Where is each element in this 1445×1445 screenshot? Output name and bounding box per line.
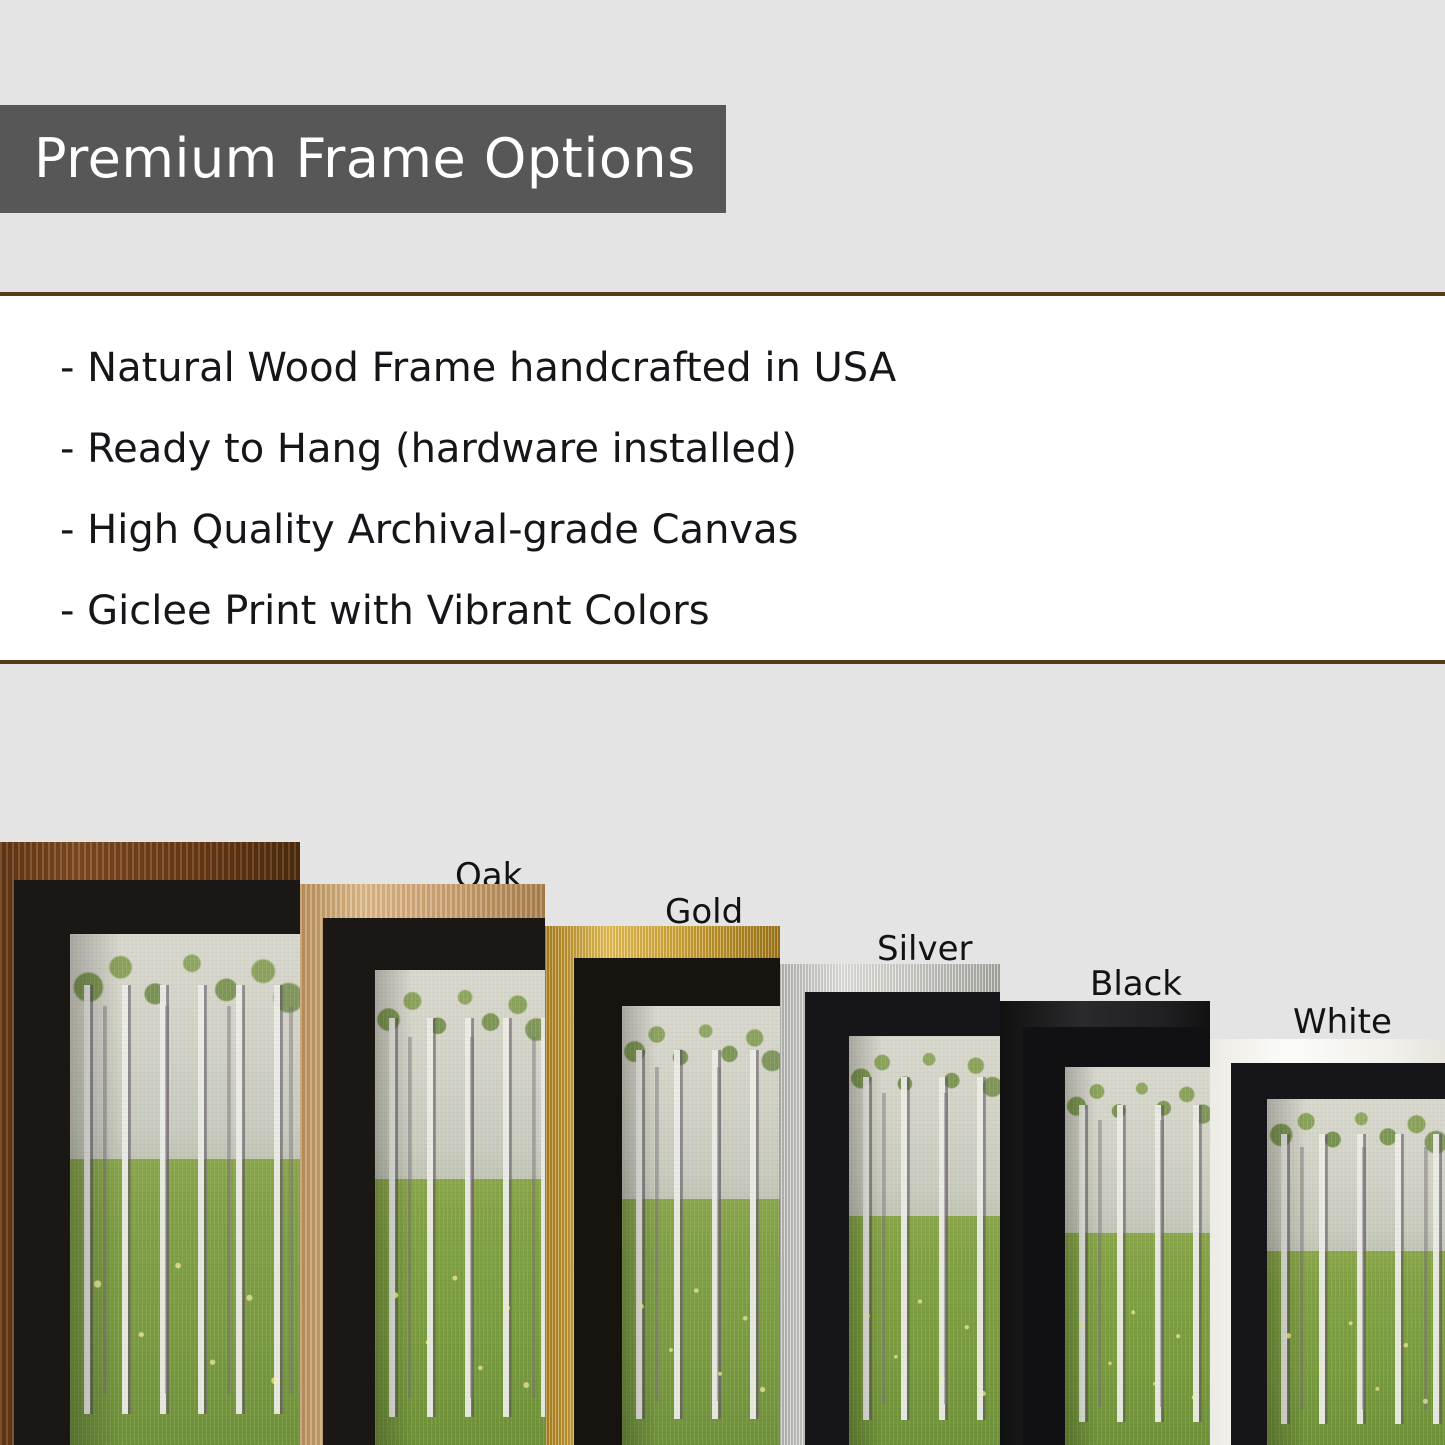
frame-sample-gold[interactable] bbox=[540, 926, 780, 1445]
frame-sample-silver[interactable] bbox=[775, 964, 1000, 1445]
birch-grove-painting bbox=[1065, 1067, 1210, 1445]
feature-item: - High Quality Archival-grade Canvas bbox=[60, 507, 798, 553]
frame-label-silver: Silver bbox=[877, 929, 973, 969]
frame-samples-stage: Walnut Oak Gold Silver Black White bbox=[0, 664, 1445, 1445]
birch-grove-painting bbox=[849, 1036, 1000, 1445]
frame-sample-oak[interactable] bbox=[285, 884, 545, 1445]
frame-sample-black[interactable] bbox=[995, 1001, 1210, 1445]
feature-item: - Natural Wood Frame handcrafted in USA bbox=[60, 345, 896, 391]
frame-label-white: White bbox=[1293, 1002, 1392, 1042]
features-panel: - Natural Wood Frame handcrafted in USA … bbox=[0, 292, 1445, 664]
header-band: Premium Frame Options bbox=[0, 0, 1445, 292]
birch-grove-painting bbox=[622, 1006, 780, 1445]
birch-grove-painting bbox=[70, 934, 300, 1445]
feature-item: - Giclee Print with Vibrant Colors bbox=[60, 588, 710, 634]
birch-grove-painting bbox=[375, 970, 545, 1445]
page-title-chip: Premium Frame Options bbox=[0, 105, 726, 213]
frame-sample-walnut[interactable] bbox=[0, 842, 300, 1445]
frame-sample-white[interactable] bbox=[1205, 1039, 1445, 1445]
feature-item: - Ready to Hang (hardware installed) bbox=[60, 426, 797, 472]
frame-label-black: Black bbox=[1090, 964, 1182, 1004]
frame-options-infographic: Premium Frame Options - Natural Wood Fra… bbox=[0, 0, 1445, 1445]
birch-grove-painting bbox=[1267, 1099, 1445, 1445]
page-title: Premium Frame Options bbox=[34, 132, 696, 186]
